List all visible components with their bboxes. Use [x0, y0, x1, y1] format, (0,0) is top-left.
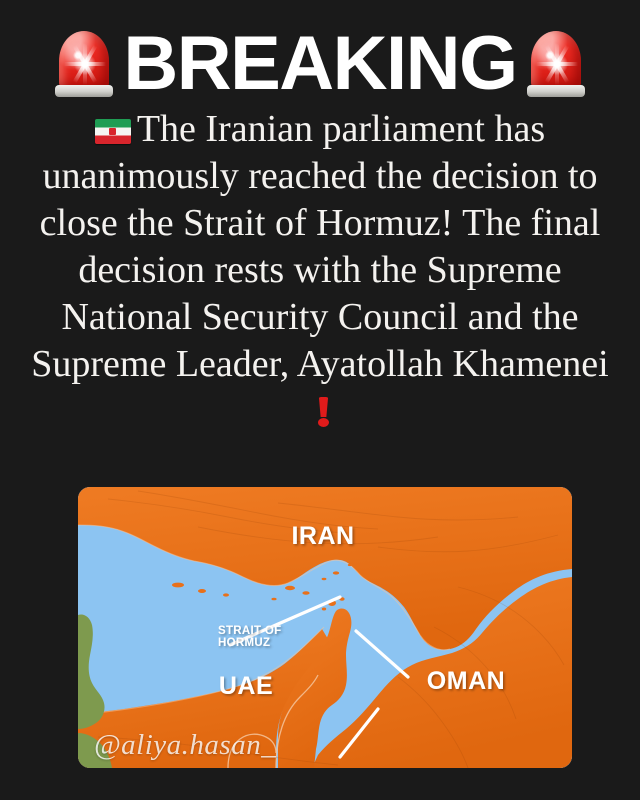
map-label-strait-line2: HORMUZ	[218, 637, 270, 649]
story-post: BREAKING The Iranian parliament has unan…	[0, 0, 640, 800]
iran-flag-icon	[95, 119, 131, 144]
map-label-iran: IRAN	[291, 522, 354, 550]
page-title: BREAKING	[123, 26, 516, 102]
map-label-uae: UAE	[219, 672, 273, 700]
map-label-oman: OMAN	[427, 667, 505, 695]
rotating-light-icon-right	[523, 27, 589, 101]
map-image: IRAN UAE OMAN STRAIT OF HORMUZ @aliya.ha…	[78, 487, 572, 768]
watermark-handle: @aliya.hasan_	[94, 729, 276, 762]
post-body-text: The Iranian parliament has unanimously r…	[31, 108, 608, 385]
breaking-header: BREAKING	[0, 18, 640, 110]
exclamation-mark-icon	[313, 395, 335, 429]
rotating-light-icon-left	[51, 27, 117, 101]
map-label-strait-line1: STRAIT OF	[218, 625, 281, 637]
post-body: The Iranian parliament has unanimously r…	[28, 106, 612, 435]
